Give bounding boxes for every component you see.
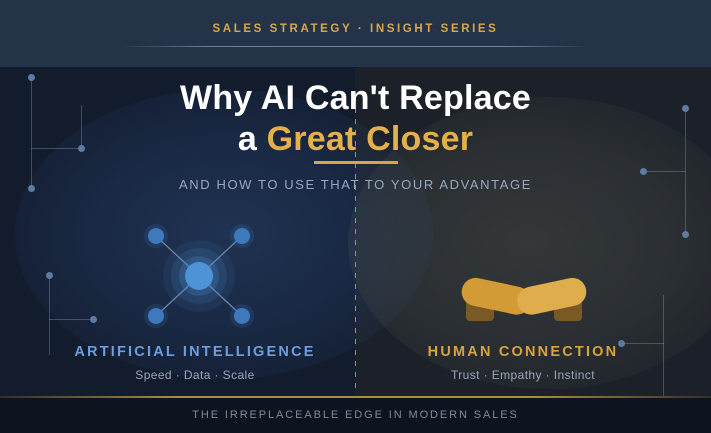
node-leaf-bottom-right: [234, 308, 250, 324]
header-rule: [122, 46, 588, 47]
node-leaf-top-right: [234, 228, 250, 244]
node-leaf-top-left: [148, 228, 164, 244]
circuit-trace-right-2: [644, 171, 686, 172]
title-underline-rule: [314, 161, 398, 164]
pillar-ai-subtitle: Speed · Data · Scale: [60, 368, 330, 382]
circuit-node-right-3: [640, 168, 647, 175]
header-kicker: SALES STRATEGY · INSIGHT SERIES: [0, 23, 711, 35]
circuit-trace-right-3: [663, 295, 664, 396]
circuit-trace-left-5: [49, 319, 94, 320]
footer-band: THE IRREPLACEABLE EDGE IN MODERN SALES: [0, 398, 711, 433]
poster-body: Why AI Can't Replace a Great Closer AND …: [0, 67, 711, 396]
pillar-ai-title: ARTIFICIAL INTELLIGENCE: [60, 344, 330, 360]
node-core: [185, 262, 213, 290]
header-band: SALES STRATEGY · INSIGHT SERIES: [0, 0, 711, 67]
circuit-node-left-5: [90, 316, 97, 323]
hero-title-lead: a: [238, 120, 267, 158]
handshake-icon: [462, 271, 586, 321]
node-leaf-bottom-left: [148, 308, 164, 324]
hero-subtitle: AND HOW TO USE THAT TO YOUR ADVANTAGE: [0, 177, 711, 192]
circuit-node-left-4: [46, 272, 53, 279]
hero-title-block: Why AI Can't Replace a Great Closer: [0, 79, 711, 161]
infographic-poster: Why AI Can't Replace a Great Closer AND …: [0, 0, 711, 433]
pillar-artificial-intelligence: ARTIFICIAL INTELLIGENCE Speed · Data · S…: [60, 344, 330, 382]
circuit-trace-left-4: [49, 275, 50, 355]
network-node-icon: [148, 228, 250, 324]
hero-title-line-2: a Great Closer: [0, 118, 711, 161]
circuit-node-right-2: [682, 231, 689, 238]
hero-title-line-1: Why AI Can't Replace: [0, 79, 711, 118]
footer-tagline: THE IRREPLACEABLE EDGE IN MODERN SALES: [0, 409, 711, 421]
hero-title-accent: Great Closer: [267, 120, 473, 158]
pillar-human-connection: HUMAN CONNECTION Trust · Empathy · Insti…: [388, 344, 658, 382]
pillar-human-subtitle: Trust · Empathy · Instinct: [388, 368, 658, 382]
pillar-human-title: HUMAN CONNECTION: [388, 344, 658, 360]
